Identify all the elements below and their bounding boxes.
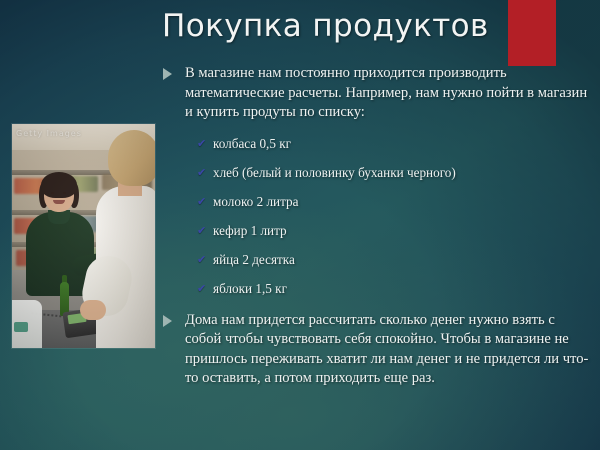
slide-title: Покупка продуктов bbox=[162, 6, 562, 47]
triangle-right-icon bbox=[163, 315, 172, 327]
list-item-label: яблоки 1,5 кг bbox=[213, 281, 287, 296]
list-item: ✔ яблоки 1,5 кг bbox=[198, 281, 593, 297]
list-item-label: колбаса 0,5 кг bbox=[213, 136, 291, 151]
list-item: ✔ хлеб (белый и половинку буханки черног… bbox=[198, 165, 593, 181]
shopping-list: ✔ колбаса 0,5 кг ✔ хлеб (белый и половин… bbox=[161, 136, 593, 297]
list-item-label: молоко 2 литра bbox=[213, 194, 298, 209]
bullet-outro-text: Дома нам придется рассчитать сколько ден… bbox=[185, 312, 588, 387]
checkout-photo: Getty Images bbox=[12, 124, 155, 348]
triangle-right-icon bbox=[163, 68, 172, 80]
checkmark-icon: ✔ bbox=[197, 224, 206, 238]
checkmark-icon: ✔ bbox=[197, 137, 206, 151]
checkmark-icon: ✔ bbox=[197, 282, 206, 296]
checkmark-icon: ✔ bbox=[197, 253, 206, 267]
photo-shading-overlay bbox=[12, 124, 155, 348]
list-item: ✔ кефир 1 литр bbox=[198, 223, 593, 239]
list-item: ✔ колбаса 0,5 кг bbox=[198, 136, 593, 152]
checkmark-icon: ✔ bbox=[197, 195, 206, 209]
list-item-label: яйца 2 десятка bbox=[213, 252, 295, 267]
bullet-intro: В магазине нам постоянно приходится прои… bbox=[161, 64, 593, 123]
list-item: ✔ молоко 2 литра bbox=[198, 194, 593, 210]
checkmark-icon: ✔ bbox=[197, 166, 206, 180]
bullet-outro: Дома нам придется рассчитать сколько ден… bbox=[161, 311, 593, 389]
list-item-label: хлеб (белый и половинку буханки черного) bbox=[213, 165, 456, 180]
presentation-slide: Покупка продуктов bbox=[0, 0, 600, 450]
slide-body: В магазине нам постоянно приходится прои… bbox=[161, 64, 593, 389]
list-item: ✔ яйца 2 десятка bbox=[198, 252, 593, 268]
list-item-label: кефир 1 литр bbox=[213, 223, 287, 238]
bullet-intro-text: В магазине нам постоянно приходится прои… bbox=[185, 65, 587, 120]
photo-watermark: Getty Images bbox=[16, 129, 82, 138]
